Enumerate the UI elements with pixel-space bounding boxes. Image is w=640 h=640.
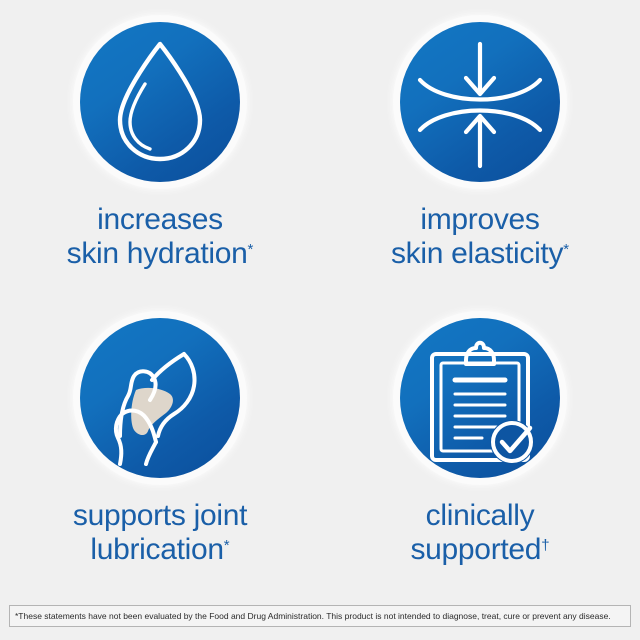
footnote-mark: * — [248, 241, 254, 258]
clipboard-check-icon — [400, 318, 560, 478]
product-benefits-infographic: increases skin hydration* — [0, 0, 640, 640]
benefit-caption-skin-hydration: increases skin hydration* — [67, 203, 254, 271]
benefit-item-skin-hydration: increases skin hydration* — [0, 0, 320, 296]
benefit-grid: increases skin hydration* — [0, 0, 640, 592]
benefit-caption-clinically-supported: clinically supported† — [410, 499, 549, 567]
caption-line-2: supported† — [410, 533, 549, 567]
caption-line-2-text: skin hydration — [67, 237, 248, 270]
skin-elasticity-arrows-icon — [400, 22, 560, 182]
benefit-item-clinically-supported: clinically supported† — [320, 296, 640, 592]
benefit-badge-skin-elasticity — [400, 22, 560, 182]
footnote-mark: * — [224, 537, 230, 554]
footnote-mark: † — [541, 537, 549, 554]
caption-line-1: supports joint — [73, 499, 247, 533]
benefit-badge-clinically-supported — [400, 318, 560, 478]
caption-line-2-text: lubrication — [90, 533, 223, 566]
benefit-badge-joint-lubrication — [80, 318, 240, 478]
benefit-caption-joint-lubrication: supports joint lubrication* — [73, 499, 247, 567]
footnote-mark: * — [563, 241, 569, 258]
water-droplet-icon — [80, 22, 240, 182]
benefit-item-joint-lubrication: supports joint lubrication* — [0, 296, 320, 592]
disclaimer-text: *These statements have not been evaluate… — [9, 605, 631, 627]
benefit-badge-skin-hydration — [80, 22, 240, 182]
caption-line-2-text: supported — [410, 533, 541, 566]
caption-line-2: skin hydration* — [67, 237, 254, 271]
caption-line-2: lubrication* — [73, 533, 247, 567]
disclaimer-bar: *These statements have not been evaluate… — [0, 592, 640, 640]
benefit-caption-skin-elasticity: improves skin elasticity* — [391, 203, 569, 271]
caption-line-2: skin elasticity* — [391, 237, 569, 271]
knee-joint-bone-icon — [80, 318, 240, 478]
caption-line-1: improves — [391, 203, 569, 237]
benefit-item-skin-elasticity: improves skin elasticity* — [320, 0, 640, 296]
caption-line-1: increases — [67, 203, 254, 237]
caption-line-1: clinically — [410, 499, 549, 533]
caption-line-2-text: skin elasticity — [391, 237, 563, 270]
